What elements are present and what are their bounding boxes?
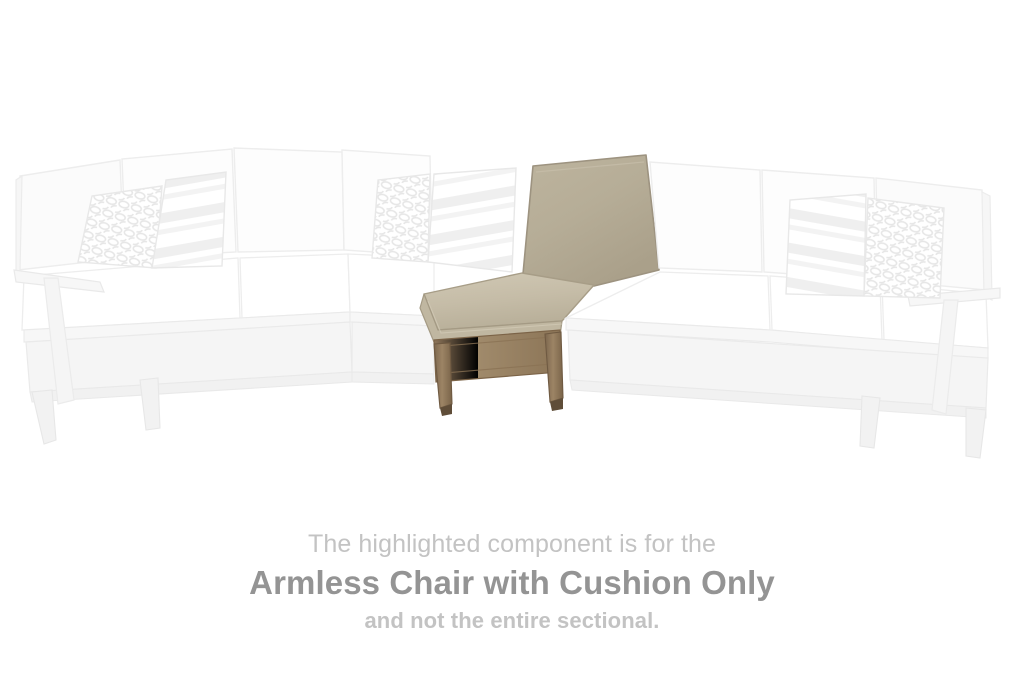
caption-line-1: The highlighted component is for the — [0, 527, 1024, 561]
caption-block: The highlighted component is for the Arm… — [0, 527, 1024, 637]
lattice-pillow-right — [864, 198, 944, 298]
stripe-pillow-corner — [428, 168, 516, 272]
product-image-stage: The highlighted component is for the Arm… — [0, 0, 1024, 683]
lattice-pillow-corner — [372, 174, 430, 262]
caption-line-3: and not the entire sectional. — [0, 605, 1024, 637]
armless-chair-back-cushion — [523, 155, 659, 286]
stripe-pillow-right — [786, 194, 866, 296]
caption-line-2: Armless Chair with Cushion Only — [0, 561, 1024, 605]
left-sofa-section — [14, 148, 352, 444]
sectional-sofa-illustration — [0, 0, 1024, 510]
